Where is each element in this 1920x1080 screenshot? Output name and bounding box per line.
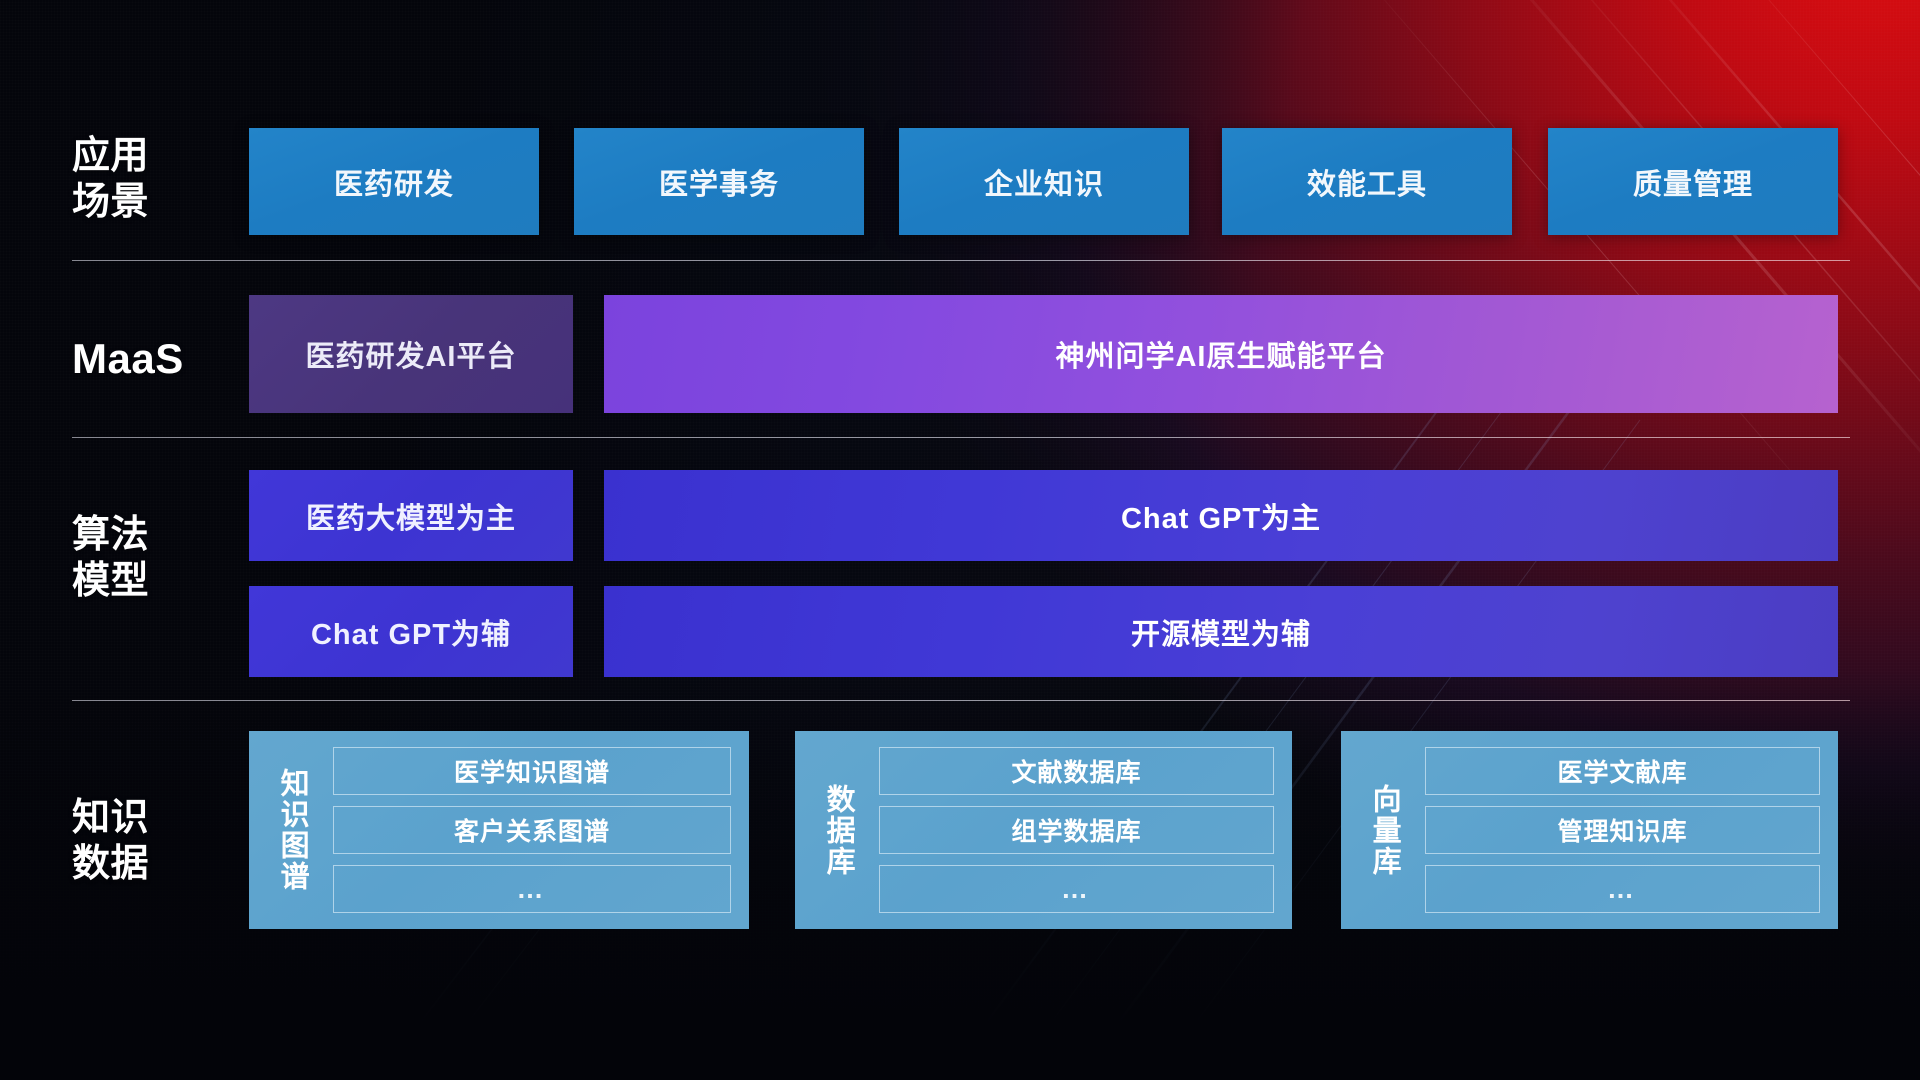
app-scenario-box-2[interactable]: 医学事务: [574, 128, 864, 235]
knowledge-item-label: 医学知识图谱: [454, 753, 610, 789]
algorithm-right-label: Chat GPT为主: [1121, 495, 1321, 537]
diagram-stage: 应用 场景 医药研发 医学事务 企业知识 效能工具 质量管理 MaaS 医药研发…: [0, 0, 1920, 1080]
row-label-line2: 场景: [72, 179, 222, 225]
row-label-line2: 数据: [72, 841, 222, 887]
row-label-maas: MaaS: [72, 333, 222, 384]
knowledge-item-label: …: [1607, 874, 1638, 905]
row-label-algorithm-model: 算法 模型: [72, 512, 222, 605]
algorithm-left-box-2[interactable]: Chat GPT为辅: [249, 586, 573, 677]
knowledge-item[interactable]: 客户关系图谱: [333, 806, 731, 854]
maas-enablement-platform-bar[interactable]: 神州问学AI原生赋能平台: [604, 295, 1838, 413]
knowledge-item-label: 客户关系图谱: [454, 812, 610, 848]
row-label-line1: 应用: [72, 133, 222, 179]
maas-platform-label: 医药研发AI平台: [305, 333, 516, 375]
divider-3: [72, 700, 1850, 701]
row-label-line2: 模型: [72, 558, 222, 604]
app-scenario-box-3[interactable]: 企业知识: [899, 128, 1189, 235]
knowledge-panel-vertical-label: 知识图谱: [265, 731, 319, 929]
app-scenario-label: 医药研发: [334, 161, 454, 203]
knowledge-panel-items: 文献数据库 组学数据库 …: [865, 747, 1278, 913]
knowledge-panel-graph[interactable]: 知识图谱 医学知识图谱 客户关系图谱 …: [249, 731, 749, 929]
algorithm-right-label: 开源模型为辅: [1131, 611, 1311, 653]
app-scenario-box-5[interactable]: 质量管理: [1548, 128, 1838, 235]
knowledge-item-label: 文献数据库: [1011, 753, 1141, 789]
app-scenario-label: 效能工具: [1307, 161, 1427, 203]
knowledge-item[interactable]: 组学数据库: [879, 806, 1274, 854]
knowledge-panel-items: 医学文献库 管理知识库 …: [1411, 747, 1824, 913]
knowledge-item-more[interactable]: …: [333, 865, 731, 913]
knowledge-item[interactable]: 文献数据库: [879, 747, 1274, 795]
algorithm-left-label: 医药大模型为主: [306, 495, 516, 537]
row-label-application-scenarios: 应用 场景: [72, 133, 222, 226]
maas-enablement-platform-label: 神州问学AI原生赋能平台: [1055, 333, 1386, 375]
knowledge-panel-database[interactable]: 数据库 文献数据库 组学数据库 …: [795, 731, 1292, 929]
knowledge-item-label: 医学文献库: [1557, 753, 1687, 789]
algorithm-left-box-1[interactable]: 医药大模型为主: [249, 470, 573, 561]
knowledge-panel-vertical-label: 向量库: [1357, 731, 1411, 929]
knowledge-panel-items: 医学知识图谱 客户关系图谱 …: [319, 747, 735, 913]
row-label-text: MaaS: [72, 333, 222, 384]
row-label-knowledge-data: 知识 数据: [72, 795, 222, 888]
app-scenario-label: 质量管理: [1633, 161, 1753, 203]
divider-1: [72, 260, 1850, 261]
maas-platform-box[interactable]: 医药研发AI平台: [249, 295, 573, 413]
app-scenario-box-1[interactable]: 医药研发: [249, 128, 539, 235]
knowledge-panel-vertical-label: 数据库: [811, 731, 865, 929]
knowledge-item-label: …: [1061, 874, 1092, 905]
knowledge-panel-vector-store[interactable]: 向量库 医学文献库 管理知识库 …: [1341, 731, 1838, 929]
knowledge-item-more[interactable]: …: [1425, 865, 1820, 913]
algorithm-right-bar-2[interactable]: 开源模型为辅: [604, 586, 1838, 677]
knowledge-item-label: …: [517, 874, 548, 905]
app-scenario-label: 医学事务: [659, 161, 779, 203]
row-label-line1: 算法: [72, 512, 222, 558]
knowledge-item-label: 组学数据库: [1011, 812, 1141, 848]
row-label-line1: 知识: [72, 795, 222, 841]
knowledge-item[interactable]: 医学知识图谱: [333, 747, 731, 795]
app-scenario-label: 企业知识: [984, 161, 1104, 203]
divider-2: [72, 437, 1850, 438]
algorithm-left-label: Chat GPT为辅: [311, 611, 511, 653]
app-scenario-box-4[interactable]: 效能工具: [1222, 128, 1512, 235]
knowledge-item-label: 管理知识库: [1557, 812, 1687, 848]
algorithm-right-bar-1[interactable]: Chat GPT为主: [604, 470, 1838, 561]
knowledge-item[interactable]: 医学文献库: [1425, 747, 1820, 795]
knowledge-item[interactable]: 管理知识库: [1425, 806, 1820, 854]
knowledge-item-more[interactable]: …: [879, 865, 1274, 913]
